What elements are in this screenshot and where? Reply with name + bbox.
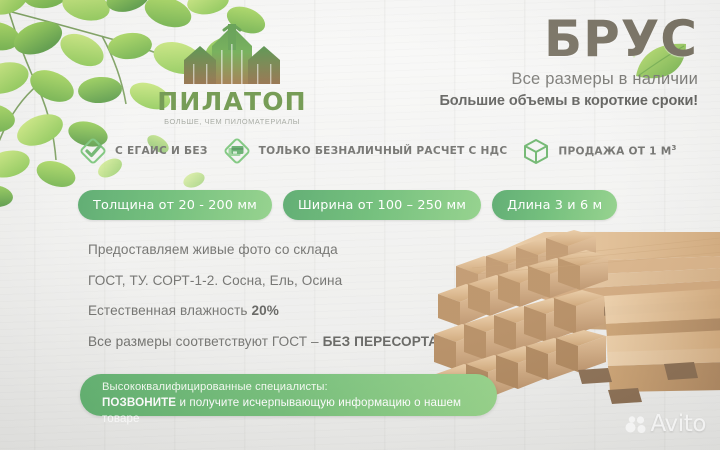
- feature-volume-sale: ПРОДАЖА ОТ 1 М3: [521, 136, 676, 166]
- logo-name: ПИЛАТОП: [152, 89, 312, 114]
- headline-title: БРУС: [368, 16, 698, 64]
- feature-egais: С ЕГАИС И БЕЗ: [78, 136, 208, 166]
- cubic-meter-exponent: 3: [672, 144, 677, 152]
- house-roof-logo-icon: [178, 24, 286, 86]
- avito-watermark: Avito: [625, 413, 706, 436]
- banner-line-call: ПОЗВОНИТЕ и получите исчерпывающую инфор…: [102, 395, 497, 426]
- banner-line-specialists: Высококвалифицированные специалисты:: [102, 380, 497, 395]
- copy-line-humidity: Естественная влажность 20%: [88, 304, 438, 318]
- copy-line-standards: ГОСТ, ТУ. СОРТ-1-2. Сосна, Ель, Осина: [88, 274, 438, 288]
- body-copy: Предоставляем живые фото со склада ГОСТ,…: [88, 243, 438, 365]
- company-logo: ПИЛАТОП БОЛЬШЕ, ЧЕМ ПИЛОМАТЕРИАЛЫ: [152, 24, 312, 126]
- logo-tagline: БОЛЬШЕ, ЧЕМ ПИЛОМАТЕРИАЛЫ: [152, 117, 312, 126]
- avito-wordmark: Avito: [651, 413, 706, 436]
- size-pill-row: Толщина от 20 - 200 мм Ширина от 100 – 2…: [78, 190, 617, 220]
- feature-label: ПРОДАЖА ОТ 1 М3: [558, 144, 676, 158]
- avito-dots-icon: [625, 415, 647, 435]
- call-emphasis: ПОЗВОНИТЕ: [102, 396, 176, 409]
- copy-line-photos: Предоставляем живые фото со склада: [88, 243, 438, 257]
- pill-length[interactable]: Длина 3 и 6 м: [492, 190, 617, 220]
- pill-thickness[interactable]: Толщина от 20 - 200 мм: [78, 190, 272, 220]
- check-diamond-icon: [78, 136, 108, 166]
- headline-block: БРУС Все размеры в наличии Большие объем…: [368, 16, 698, 109]
- feature-cashless-payment: ТОЛЬКО БЕЗНАЛИЧНЫЙ РАСЧЕТ С НДС: [222, 136, 508, 166]
- feature-row: С ЕГАИС И БЕЗ ТОЛЬКО БЕЗНАЛИЧНЫЙ РАСЧЕТ …: [78, 136, 677, 166]
- advertisement-banner: ПИЛАТОП БОЛЬШЕ, ЧЕМ ПИЛОМАТЕРИАЛЫ БРУС В…: [0, 0, 720, 450]
- headline-subtitle: Все размеры в наличии: [368, 70, 698, 89]
- headline-emphasis: Большие объемы в короткие сроки!: [368, 93, 698, 109]
- card-payment-diamond-icon: [222, 136, 252, 166]
- feature-label: С ЕГАИС И БЕЗ: [115, 145, 208, 157]
- humidity-value: 20%: [251, 303, 279, 318]
- feature-label: ТОЛЬКО БЕЗНАЛИЧНЫЙ РАСЧЕТ С НДС: [259, 145, 508, 157]
- pill-width[interactable]: Ширина от 100 – 250 мм: [283, 190, 481, 220]
- copy-line-gost: Все размеры соответствуют ГОСТ – БЕЗ ПЕР…: [88, 335, 438, 349]
- call-to-action-banner[interactable]: Высококвалифицированные специалисты: ПОЗ…: [80, 374, 497, 416]
- no-mixgrade-value: БЕЗ ПЕРЕСОРТА: [323, 334, 439, 349]
- cube-icon: [521, 136, 551, 166]
